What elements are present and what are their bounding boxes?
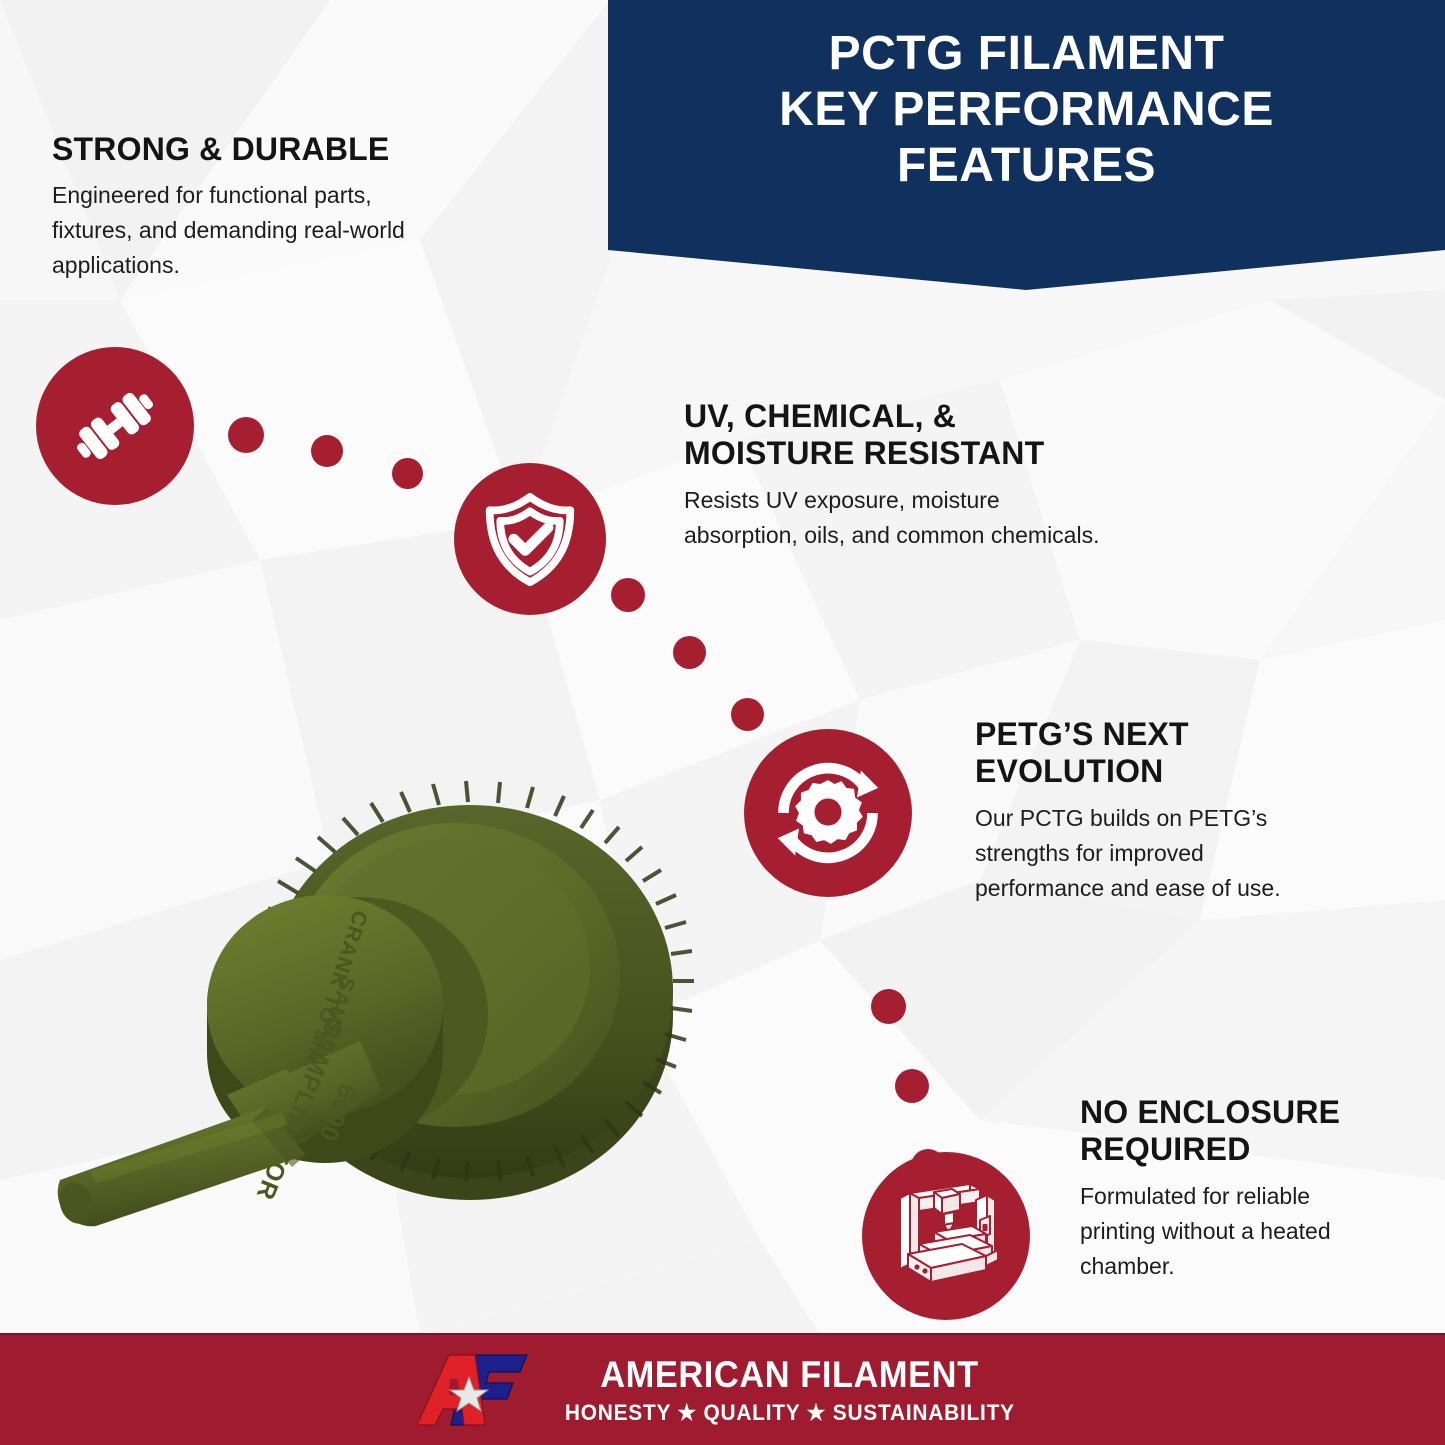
product-illustration: CRANK TO MAKE SAMPLES SAMPLINATOR 6000 xyxy=(30,655,720,1255)
feature-block-uv-chemical-moisture: UV, CHEMICAL, & MOISTURE RESISTANT Resis… xyxy=(684,398,1154,553)
connector-dot xyxy=(895,1069,929,1103)
feature-heading-uv-chemical-moisture: UV, CHEMICAL, & MOISTURE RESISTANT xyxy=(684,398,1154,473)
feature-heading-strong-durable: STRONG & DURABLE xyxy=(52,131,472,168)
product-photo-3d-printed-crank: CRANK TO MAKE SAMPLES SAMPLINATOR 6000 xyxy=(30,655,720,1255)
connector-dot xyxy=(911,1149,945,1183)
connector-dot xyxy=(311,435,343,467)
shield-check-icon xyxy=(454,463,606,615)
brand-name: AMERICAN FILAMENT xyxy=(600,1356,978,1393)
connector-dot xyxy=(871,989,906,1024)
feature-body-uv-chemical-moisture: Resists UV exposure, moisture absorption… xyxy=(684,483,1154,553)
connector-dot xyxy=(392,458,423,489)
american-filament-logo-icon xyxy=(419,1351,531,1429)
af-logo-glyph xyxy=(419,1351,531,1429)
3d-printer-icon xyxy=(862,1152,1030,1320)
brand-tagline: HONESTY ★ QUALITY ★ SUSTAINABILITY xyxy=(564,1402,1014,1424)
connector-dot xyxy=(228,417,264,453)
page-title: PCTG FILAMENT KEY PERFORMANCE FEATURES xyxy=(608,26,1445,194)
gear-recycle-icon-glyph xyxy=(770,755,886,871)
dumbbell-icon-glyph xyxy=(65,376,165,476)
feature-body-no-enclosure-required: Formulated for reliable printing without… xyxy=(1080,1179,1410,1284)
3d-printer-icon-glyph xyxy=(886,1176,1006,1296)
feature-block-strong-durable: STRONG & DURABLE Engineered for function… xyxy=(52,131,472,283)
feature-block-no-enclosure-required: NO ENCLOSURE REQUIRED Formulated for rel… xyxy=(1080,1094,1410,1284)
crank-grip xyxy=(54,1107,306,1228)
footer-bar: AMERICAN FILAMENT HONESTY ★ QUALITY ★ SU… xyxy=(0,1333,1445,1445)
feature-block-petg-next-evolution: PETG’S NEXT EVOLUTION Our PCTG builds on… xyxy=(975,716,1305,906)
dumbbell-icon xyxy=(36,347,194,505)
gear-recycle-icon xyxy=(744,729,912,897)
shield-check-icon-glyph xyxy=(482,491,578,587)
header-banner: PCTG FILAMENT KEY PERFORMANCE FEATURES xyxy=(608,0,1445,290)
infographic-canvas: PCTG FILAMENT KEY PERFORMANCE FEATURES S… xyxy=(0,0,1445,1445)
footer-brand-text: AMERICAN FILAMENT HONESTY ★ QUALITY ★ SU… xyxy=(553,1356,1027,1424)
feature-body-strong-durable: Engineered for functional parts, fixture… xyxy=(52,178,472,283)
feature-body-petg-next-evolution: Our PCTG builds on PETG’s strengths for … xyxy=(975,801,1305,906)
feature-heading-petg-next-evolution: PETG’S NEXT EVOLUTION xyxy=(975,716,1305,791)
feature-heading-no-enclosure-required: NO ENCLOSURE REQUIRED xyxy=(1080,1094,1410,1169)
connector-dot xyxy=(731,698,764,731)
connector-dot xyxy=(611,578,645,612)
